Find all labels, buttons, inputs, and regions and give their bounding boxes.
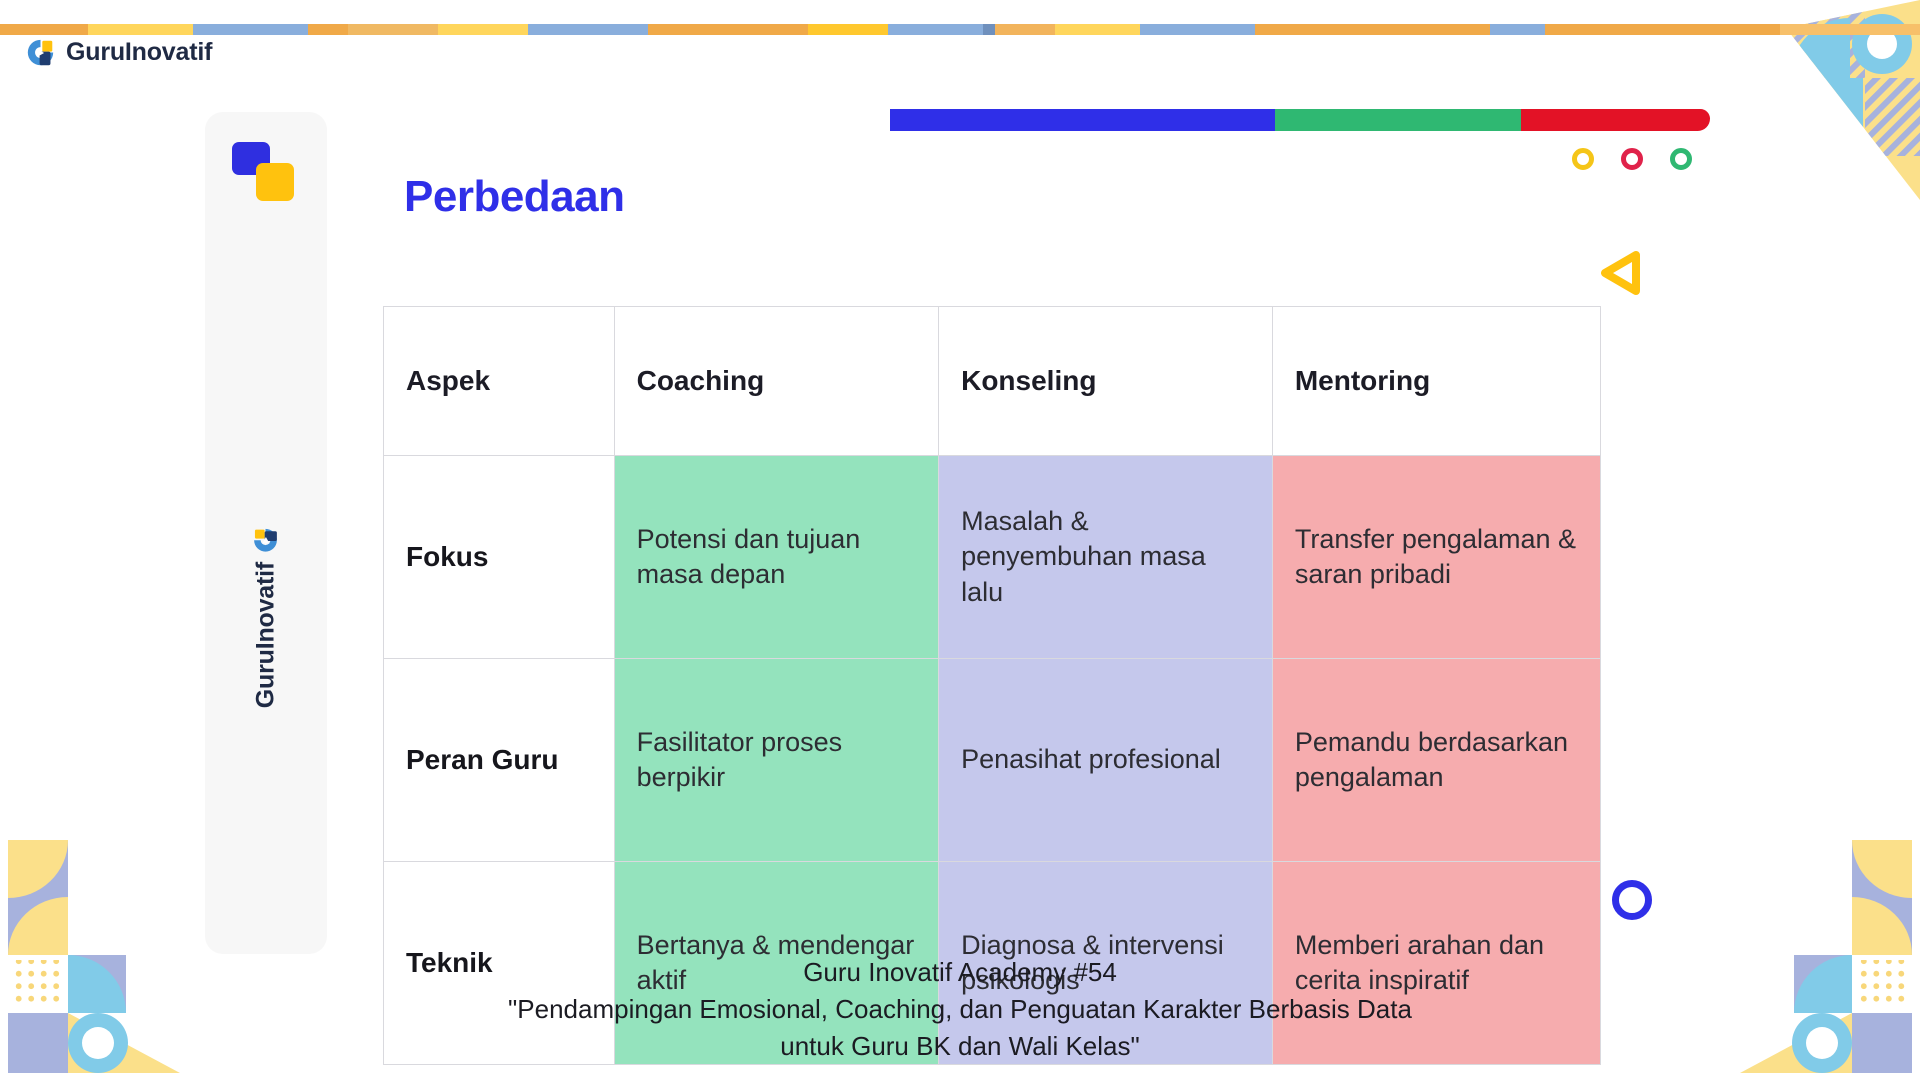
guruinovatif-logo-icon	[26, 38, 55, 67]
stripe-segment-17	[1780, 24, 1920, 35]
table-header-row: Aspek Coaching Konseling Mentoring	[384, 307, 1601, 456]
stripe-segment-12	[1055, 24, 1140, 35]
stripe-segment-11	[995, 24, 1055, 35]
cell-aspek: Fokus	[384, 456, 615, 659]
ring-dots-group	[1572, 148, 1692, 170]
stripe-segment-13	[1140, 24, 1255, 35]
stripe-segment-10	[983, 24, 995, 35]
stripe-segment-7	[648, 24, 808, 35]
stripe-segment-5	[438, 24, 528, 35]
column-header-mentoring: Mentoring	[1272, 307, 1600, 456]
table-row: Fokus Potensi dan tujuan masa depan Masa…	[384, 456, 1601, 659]
left-sidebar-panel: GuruInovatif	[205, 112, 327, 954]
column-header-konseling: Konseling	[939, 307, 1273, 456]
cell-mentoring: Transfer pengalaman & saran pribadi	[1272, 456, 1600, 659]
table-row: Peran Guru Fasilitator proses berpikir P…	[384, 659, 1601, 862]
footer-line-3: untuk Guru BK dan Wali Kelas"	[0, 1028, 1920, 1065]
stripe-segment-8	[808, 24, 888, 35]
stripe-segment-16	[1545, 24, 1780, 35]
stripe-segment-0	[0, 24, 88, 35]
tricolor-accent-bar	[890, 109, 1710, 131]
column-header-coaching: Coaching	[614, 307, 938, 456]
stripe-segment-2	[193, 24, 308, 35]
stripe-segment-15	[1490, 24, 1545, 35]
red-ring-icon	[1621, 148, 1643, 170]
cell-konseling: Masalah & penyembuhan masa lalu	[939, 456, 1273, 659]
stripe-segment-6	[528, 24, 648, 35]
green-ring-icon	[1670, 148, 1692, 170]
brand-name: GuruInovatif	[66, 38, 212, 67]
two-squares-icon	[232, 142, 294, 204]
tribar-segment-red	[1521, 109, 1710, 131]
footer-caption: Guru Inovatif Academy #54 "Pendampingan …	[0, 954, 1920, 1065]
cell-coaching: Fasilitator proses berpikir	[614, 659, 938, 862]
footer-line-1: Guru Inovatif Academy #54	[0, 954, 1920, 991]
page-title: Perbedaan	[404, 172, 624, 222]
cell-coaching: Potensi dan tujuan masa depan	[614, 456, 938, 659]
stripe-segment-9	[888, 24, 983, 35]
sidebar-vertical-brand: GuruInovatif	[252, 527, 281, 708]
yellow-ring-icon	[1572, 148, 1594, 170]
cell-aspek: Peran Guru	[384, 659, 615, 862]
yellow-square-shape	[256, 163, 294, 201]
guruinovatif-logo-icon	[253, 527, 279, 553]
stripe-segment-3	[308, 24, 348, 35]
column-header-aspek: Aspek	[384, 307, 615, 456]
triangle-outline-icon	[1592, 245, 1648, 301]
blue-ring-icon	[1612, 880, 1652, 920]
stripe-segment-1	[88, 24, 193, 35]
comparison-table: Aspek Coaching Konseling Mentoring Fokus…	[383, 306, 1601, 1065]
stripe-segment-14	[1255, 24, 1490, 35]
brand-header: GuruInovatif	[26, 38, 212, 67]
sidebar-brand-label: GuruInovatif	[252, 562, 281, 708]
cell-konseling: Penasihat profesional	[939, 659, 1273, 862]
tribar-segment-green	[1275, 109, 1521, 131]
stripe-segment-4	[348, 24, 438, 35]
tribar-segment-blue	[890, 109, 1275, 131]
top-decorative-stripe	[0, 24, 1920, 35]
footer-line-2: "Pendampingan Emosional, Coaching, dan P…	[0, 991, 1920, 1028]
cell-mentoring: Pemandu berdasarkan pengalaman	[1272, 659, 1600, 862]
